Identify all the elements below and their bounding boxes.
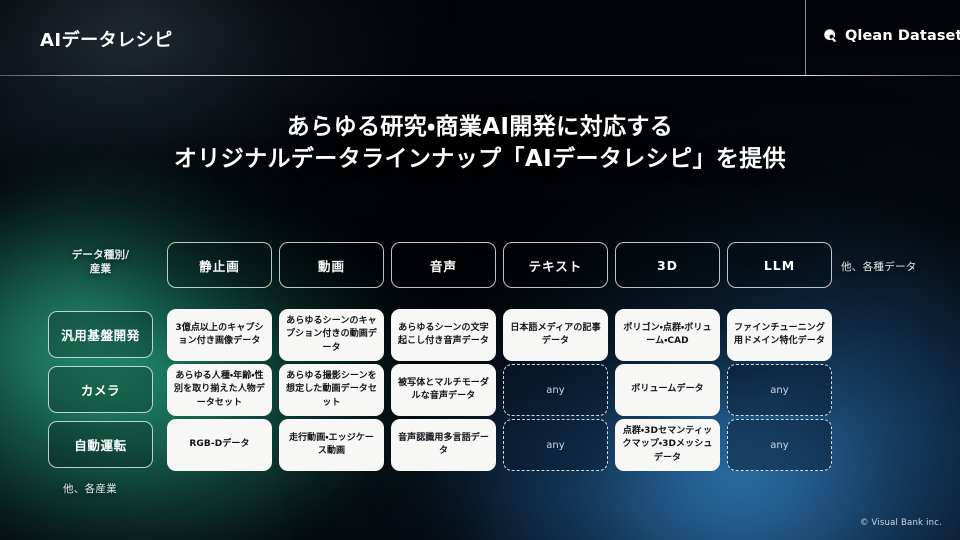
data-matrix: データ種別/ 産業 静止画 動画 音声 テキスト 3D LLM 他、各種データ … (0, 0, 960, 540)
column-header-audio[interactable]: 音声 (391, 242, 496, 288)
matrix-corner-label: データ種別/ 産業 (48, 248, 153, 276)
matrix-corner-label-line1: データ種別/ (48, 248, 153, 262)
copyright-notice: © Visual Bank inc. (860, 518, 942, 528)
matrix-cell-r2-c3-any[interactable]: any (503, 419, 608, 471)
column-header-video[interactable]: 動画 (279, 242, 384, 288)
matrix-cell-r2-c1[interactable]: 走行動画・エッジケース動画 (279, 419, 384, 471)
matrix-cell-r1-c0[interactable]: あらゆる人種・年齢・性別を取り揃えた人物データセット (167, 364, 272, 416)
row-header-foundation[interactable]: 汎用基盤開発 (48, 311, 153, 358)
matrix-cell-r2-c2[interactable]: 音声認識用多言語データ (391, 419, 496, 471)
matrix-cell-r0-c4[interactable]: ポリゴン・点群・ボリューム・CAD (615, 309, 720, 361)
column-header-text[interactable]: テキスト (503, 242, 608, 288)
matrix-cell-r1-c5-any[interactable]: any (727, 364, 832, 416)
matrix-cell-r2-c4[interactable]: 点群・3Dセマンティックマップ・3Dメッシュデータ (615, 419, 720, 471)
column-header-3d[interactable]: 3D (615, 242, 720, 288)
rows-note: 他、各産業 (63, 481, 117, 496)
matrix-corner-label-line2: 産業 (48, 262, 153, 276)
matrix-cell-r2-c0[interactable]: RGB-Dデータ (167, 419, 272, 471)
matrix-cell-r1-c1[interactable]: あらゆる撮影シーンを想定した動画データセット (279, 364, 384, 416)
matrix-cell-r0-c0[interactable]: 3億点以上のキャプション付き画像データ (167, 309, 272, 361)
column-header-still-image[interactable]: 静止画 (167, 242, 272, 288)
matrix-cell-r1-c2[interactable]: 被写体とマルチモーダルな音声データ (391, 364, 496, 416)
column-header-llm[interactable]: LLM (727, 242, 832, 288)
row-header-autonomous-driving[interactable]: 自動運転 (48, 421, 153, 468)
matrix-cell-r0-c1[interactable]: あらゆるシーンのキャプション付きの動画データ (279, 309, 384, 361)
matrix-cell-r1-c3-any[interactable]: any (503, 364, 608, 416)
matrix-cell-r0-c5[interactable]: ファインチューニング用ドメイン特化データ (727, 309, 832, 361)
row-header-camera[interactable]: カメラ (48, 366, 153, 413)
columns-note: 他、各種データ (841, 259, 917, 274)
matrix-cell-r0-c2[interactable]: あらゆるシーンの文字起こし付き音声データ (391, 309, 496, 361)
matrix-cell-r2-c5-any[interactable]: any (727, 419, 832, 471)
matrix-cell-r1-c4[interactable]: ボリュームデータ (615, 364, 720, 416)
matrix-cell-r0-c3[interactable]: 日本語メディアの記事データ (503, 309, 608, 361)
